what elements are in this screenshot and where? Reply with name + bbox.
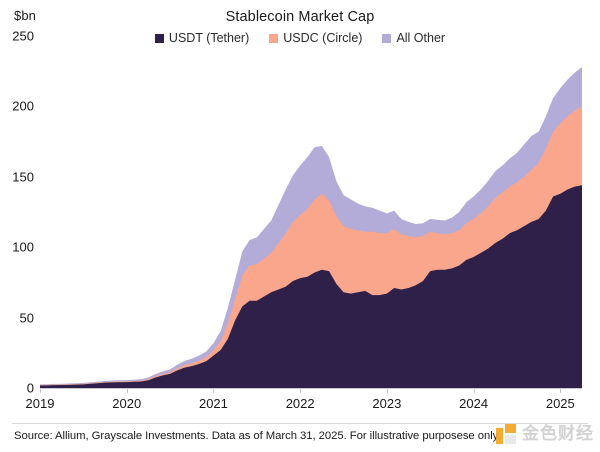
x-axis-tick-label: 2019	[26, 396, 55, 411]
x-axis-line	[40, 388, 582, 389]
x-axis-labels: 2019202020212022202320242025	[0, 396, 600, 416]
y-axis-tick-label: 100	[0, 240, 34, 255]
x-axis-tick-label: 2022	[286, 396, 315, 411]
y-axis-tick-label: 250	[0, 29, 34, 44]
x-axis-tick	[40, 388, 41, 393]
x-axis-tick-label: 2020	[112, 396, 141, 411]
y-axis-labels: 050100150200250	[0, 0, 34, 452]
x-axis-tick-label: 2021	[199, 396, 228, 411]
watermark-text: 金色财经	[522, 424, 594, 444]
y-axis-tick-label: 0	[0, 381, 34, 396]
x-axis-tick	[560, 388, 561, 393]
stablecoin-market-cap-chart: $bn Stablecoin Market Cap USDT (Tether) …	[0, 0, 600, 452]
x-axis-tick-label: 2025	[546, 396, 575, 411]
x-axis-tick	[387, 388, 388, 393]
y-axis-tick-label: 200	[0, 99, 34, 114]
y-axis-tick-label: 150	[0, 169, 34, 184]
x-axis-tick	[300, 388, 301, 393]
plot-area	[40, 36, 582, 388]
y-axis-tick-label: 50	[0, 310, 34, 325]
x-axis-tick	[213, 388, 214, 393]
x-axis-tick	[474, 388, 475, 393]
watermark-logo-icon	[496, 424, 516, 444]
watermark: 金色财经	[496, 424, 594, 444]
x-axis-tick	[127, 388, 128, 393]
x-axis-tick-label: 2024	[459, 396, 488, 411]
chart-title: Stablecoin Market Cap	[0, 9, 600, 25]
source-note: Source: Allium, Grayscale Investments. D…	[14, 430, 501, 442]
x-axis-tick-label: 2023	[372, 396, 401, 411]
stacked-area-svg	[40, 36, 582, 388]
